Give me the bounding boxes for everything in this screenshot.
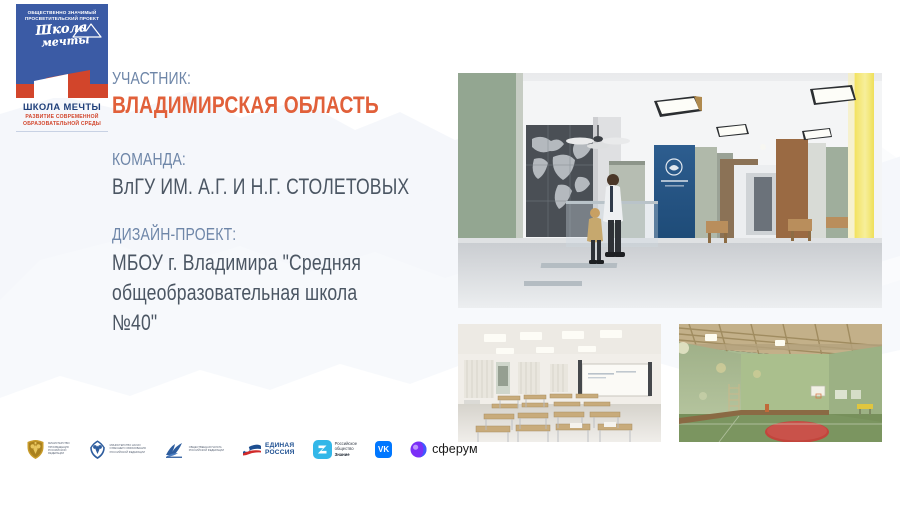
- project-value-line2: общеобразовательная школа: [112, 278, 392, 308]
- russian-coat-of-arms-blue-icon: [88, 439, 107, 460]
- line-3: ФЕДЕРАЦИИ: [48, 452, 70, 455]
- partner-znanie-text: Российское общество Знание: [335, 441, 357, 457]
- partner-minprosvescheniya-text: МИНИСТЕРСТВО ПРОСВЕЩЕНИЯ РОССИЙСКОЙ ФЕДЕ…: [48, 442, 70, 456]
- partner-obshchestvennaya-palata-text: ОБЩЕСТВЕННАЯ ПАЛАТА РОССИЙСКОЙ ФЕДЕРАЦИИ: [189, 446, 224, 453]
- shkola-mechty-logo: ОБЩЕСТВЕННО ЗНАЧИМЫЙ ПРОСВЕТИТЕЛЬСКИЙ ПР…: [16, 4, 108, 132]
- line-2: РОССИЙСКОЙ ФЕДЕРАЦИИ: [110, 451, 146, 454]
- team-label: КОМАНДА:: [112, 149, 392, 170]
- logo-subtitle-line2: ОБРАЗОВАТЕЛЬНОЙ СРЕДЫ: [16, 121, 108, 128]
- project-label: ДИЗАЙН-ПРОЕКТ:: [112, 224, 392, 245]
- participant-value: ВЛАДИМИРСКАЯ ОБЛАСТЬ: [112, 92, 392, 119]
- partner-vk: VK: [375, 436, 392, 462]
- vk-icon: VK: [375, 441, 392, 458]
- logo-name: ШКОЛА МЕЧТЫ: [16, 101, 108, 112]
- partner-znanie: Российское общество Знание: [313, 436, 357, 462]
- logo-divider: [16, 131, 108, 132]
- logo-tagline: ОБЩЕСТВЕННО ЗНАЧИМЫЙ ПРОСВЕТИТЕЛЬСКИЙ ПР…: [16, 4, 108, 21]
- bear-flag-mark-icon: [242, 441, 262, 457]
- russian-coat-of-arms-gold-icon: [26, 439, 45, 460]
- vk-badge-text: VK: [378, 445, 389, 454]
- partner-minobrnauki-text: МИНИСТЕРСТВО НАУКИ И ВЫСШЕГО ОБРАЗОВАНИЯ…: [110, 444, 146, 454]
- photo-gymnasium: [679, 324, 882, 442]
- line-1: РОССИЙСКОЙ ФЕДЕРАЦИИ: [189, 449, 224, 452]
- logo-card: ОБЩЕСТВЕННО ЗНАЧИМЫЙ ПРОСВЕТИТЕЛЬСКИЙ ПР…: [16, 4, 108, 98]
- presentation-slide: ОБЩЕСТВЕННО ЗНАЧИМЫЙ ПРОСВЕТИТЕЛЬСКИЙ ПР…: [0, 0, 900, 506]
- line-0: ЕДИНАЯ: [265, 442, 295, 449]
- partner-sferum-text: сферум: [432, 442, 478, 456]
- house-icon: [16, 64, 108, 98]
- sferum-circle-icon: [410, 441, 427, 458]
- team-value: ВлГУ ИМ. А.Г. И Н.Г. СТОЛЕТОВЫХ: [112, 173, 392, 200]
- logo-tagline-line2: ПРОСВЕТИТЕЛЬСКИЙ ПРОЕКТ: [21, 16, 103, 22]
- partner-edinaya-rossiya: ЕДИНАЯ РОССИЯ: [242, 436, 295, 462]
- partner-edinaya-rossiya-text: ЕДИНАЯ РОССИЯ: [265, 442, 295, 457]
- line-2: Знание: [335, 452, 357, 457]
- project-value-line3: №40": [112, 308, 392, 338]
- partner-minobrnauki: МИНИСТЕРСТВО НАУКИ И ВЫСШЕГО ОБРАЗОВАНИЯ…: [88, 436, 146, 462]
- logo-subtitle-line1: РАЗВИТИЕ СОВРЕМЕННОЙ: [16, 114, 108, 121]
- project-value-line1: МБОУ г. Владимира "Средняя: [112, 248, 392, 278]
- participant-label: УЧАСТНИК:: [112, 68, 392, 89]
- public-chamber-mark-icon: [164, 439, 186, 459]
- partner-obshchestvennaya-palata: ОБЩЕСТВЕННАЯ ПАЛАТА РОССИЙСКОЙ ФЕДЕРАЦИИ: [164, 436, 224, 462]
- znanie-z-mark-icon: [313, 440, 332, 459]
- logo-subtitle: РАЗВИТИЕ СОВРЕМЕННОЙ ОБРАЗОВАТЕЛЬНОЙ СРЕ…: [16, 114, 108, 127]
- slide-text-column: УЧАСТНИК: ВЛАДИМИРСКАЯ ОБЛАСТЬ КОМАНДА: …: [112, 68, 462, 338]
- partner-sferum: сферум: [410, 436, 478, 462]
- logo-script-wordmark: Школа мечты: [16, 21, 108, 51]
- partner-minprosvescheniya: МИНИСТЕРСТВО ПРОСВЕЩЕНИЯ РОССИЙСКОЙ ФЕДЕ…: [26, 436, 70, 462]
- logo-tagline-line1: ОБЩЕСТВЕННО ЗНАЧИМЫЙ: [21, 10, 103, 16]
- line-1: РОССИЯ: [265, 449, 295, 456]
- partner-logos-row: МИНИСТЕРСТВО ПРОСВЕЩЕНИЯ РОССИЙСКОЙ ФЕДЕ…: [26, 436, 478, 462]
- photo-school-corridor: [458, 73, 882, 308]
- photo-classroom: [458, 324, 661, 442]
- project-value: МБОУ г. Владимира "Средняя общеобразоват…: [112, 248, 392, 338]
